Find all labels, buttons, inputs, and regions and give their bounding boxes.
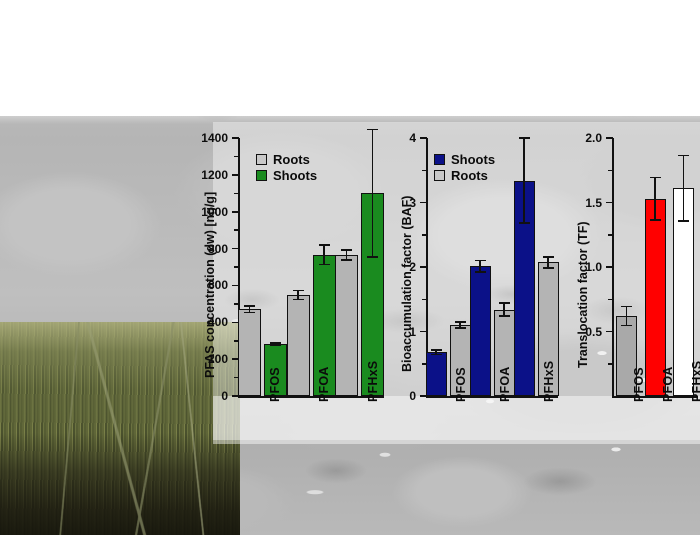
- y-tick-major: [606, 331, 613, 333]
- error-cap-bottom-pfhxs: [678, 220, 689, 222]
- error-cap-top-pfoa: [650, 177, 661, 179]
- y-tick-major: [606, 266, 613, 268]
- y-tick-major: [606, 202, 613, 204]
- x-axis-label-pfoa: PFOA: [661, 366, 675, 402]
- error-bar-pfoa: [654, 177, 656, 221]
- error-bar-pfos: [626, 306, 628, 327]
- error-cap-top-pfhxs: [678, 155, 689, 157]
- y-tick-label: 2.0: [568, 131, 602, 145]
- x-axis-label-pfos: PFOS: [632, 367, 646, 402]
- y-tick-minor: [608, 299, 612, 301]
- y-tick-minor: [608, 363, 612, 365]
- y-tick-label: 1.5: [568, 196, 602, 210]
- error-cap-bottom-pfoa: [650, 219, 661, 221]
- y-tick-major: [606, 137, 613, 139]
- x-axis-line: [612, 396, 698, 398]
- error-cap-bottom-pfos: [621, 325, 632, 327]
- chart-translocation-factor: 0.51.01.52.0PFOSPFOAPFHxSTranslocation f…: [0, 0, 700, 535]
- y-tick-minor: [608, 170, 612, 172]
- y-axis-title: Translocation factor (TF): [576, 221, 590, 368]
- x-axis-label-pfhxs: PFHxS: [690, 361, 700, 402]
- y-tick-minor: [608, 234, 612, 236]
- error-bar-pfhxs: [683, 155, 685, 222]
- error-cap-top-pfos: [621, 306, 632, 308]
